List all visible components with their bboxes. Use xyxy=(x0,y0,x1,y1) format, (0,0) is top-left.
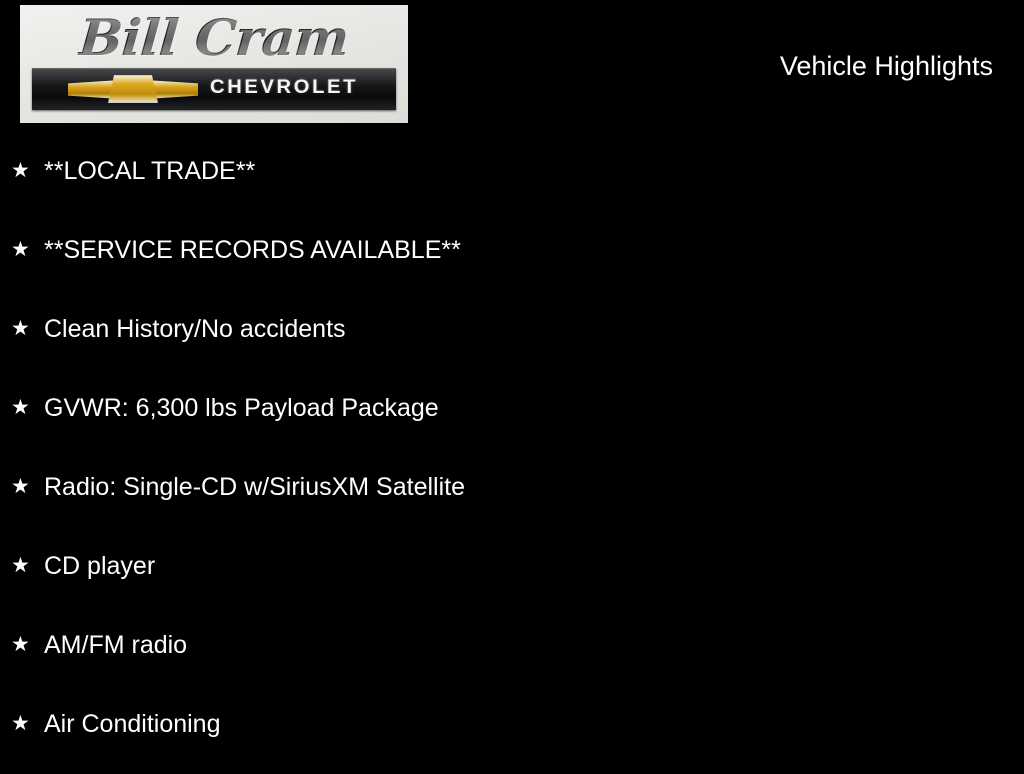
list-item-label: Clean History/No accidents xyxy=(44,314,346,344)
list-item-label: GVWR: 6,300 lbs Payload Package xyxy=(44,393,439,423)
list-item: ★ **LOCAL TRADE** xyxy=(0,142,1024,221)
list-item-label: AM/FM radio xyxy=(44,630,187,660)
list-item: ★ CD player xyxy=(0,537,1024,616)
star-icon: ★ xyxy=(11,396,33,420)
list-item: ★ Clean History/No accidents xyxy=(0,300,1024,379)
star-icon: ★ xyxy=(11,633,33,657)
list-item: ★ Radio: Single-CD w/SiriusXM Satellite xyxy=(0,458,1024,537)
star-icon: ★ xyxy=(11,317,33,341)
list-item-label: Radio: Single-CD w/SiriusXM Satellite xyxy=(44,472,465,502)
star-icon: ★ xyxy=(11,238,33,262)
list-item-label: **LOCAL TRADE** xyxy=(44,156,255,186)
list-item-label: CD player xyxy=(44,551,155,581)
star-icon: ★ xyxy=(11,159,33,183)
star-icon: ★ xyxy=(11,475,33,499)
page-header: Bill Cram CHEVROLET Vehicle Highlights xyxy=(0,0,1024,130)
vehicle-highlights-list: ★ **LOCAL TRADE** ★ **SERVICE RECORDS AV… xyxy=(0,142,1024,774)
star-icon: ★ xyxy=(11,554,33,578)
list-item: ★ AM/FM radio xyxy=(0,616,1024,695)
list-item: ★ GVWR: 6,300 lbs Payload Package xyxy=(0,379,1024,458)
list-item: ★ Air Conditioning xyxy=(0,695,1024,774)
list-item-label: **SERVICE RECORDS AVAILABLE** xyxy=(44,235,461,265)
list-item-label: Air Conditioning xyxy=(44,709,221,739)
page-title: Vehicle Highlights xyxy=(0,48,993,84)
star-icon: ★ xyxy=(11,712,33,736)
list-item: ★ **SERVICE RECORDS AVAILABLE** xyxy=(0,221,1024,300)
